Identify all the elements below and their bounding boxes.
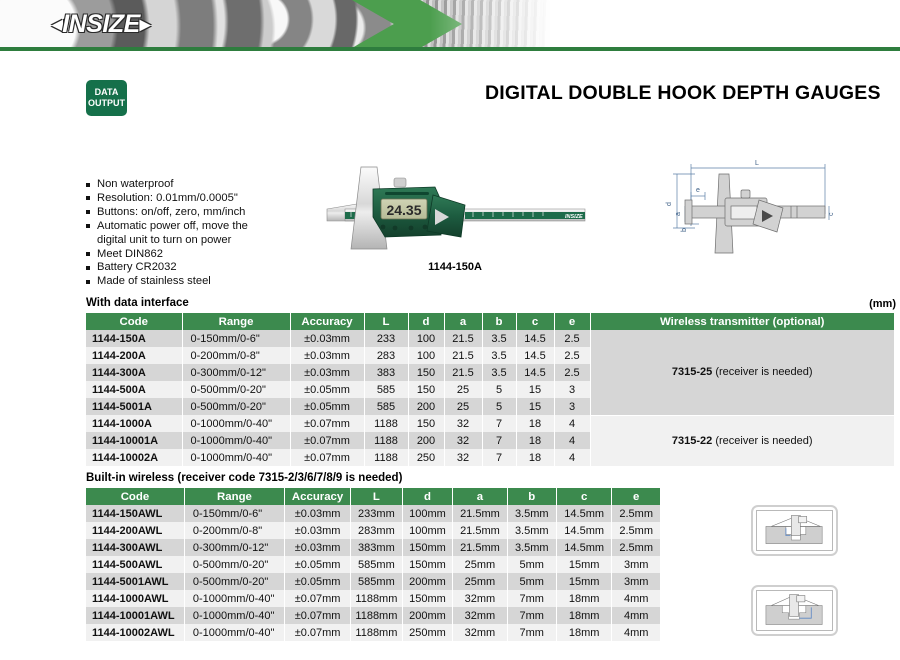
cell-e: 4mm <box>612 624 660 641</box>
cell-range: 0-1000mm/0-40" <box>182 415 290 432</box>
cell-a: 25 <box>444 381 482 398</box>
cell-L: 233mm <box>351 505 403 522</box>
column-header-wireless-transmitter: Wireless transmitter (optional) <box>590 313 894 330</box>
cell-b: 3.5 <box>482 364 516 381</box>
cell-L: 585mm <box>351 573 403 590</box>
cell-d: 100mm <box>402 522 453 539</box>
cell-c: 18 <box>516 415 554 432</box>
cell-wireless-transmitter: 7315-25 (receiver is needed) <box>590 330 894 415</box>
cell-c: 14.5 <box>516 330 554 347</box>
cell-code: 1144-150A <box>86 330 182 347</box>
cell-accuracy: ±0.07mm <box>290 432 364 449</box>
cell-e: 3 <box>554 398 590 415</box>
cell-range: 0-1000mm/0-40" <box>184 590 284 607</box>
transmitter-code: 7315-22 <box>672 435 712 447</box>
cell-b: 3.5mm <box>507 539 556 556</box>
cell-code: 1144-5001A <box>86 398 182 415</box>
cell-a: 21.5 <box>444 347 482 364</box>
built-in-wireless-table: CodeRangeAccuracyLdabce 1144-150AWL0-150… <box>86 488 660 641</box>
cell-a: 25 <box>444 398 482 415</box>
table1-section-label: With data interface <box>86 297 189 309</box>
cell-L: 1188mm <box>351 624 403 641</box>
cell-a: 32mm <box>453 607 507 624</box>
cell-code: 1144-300A <box>86 364 182 381</box>
cell-a: 21.5mm <box>453 539 507 556</box>
cell-L: 383mm <box>351 539 403 556</box>
cell-d: 200 <box>408 432 444 449</box>
table1-body: 1144-150A0-150mm/0-6"±0.03mm23310021.53.… <box>86 330 894 466</box>
cell-range: 0-500mm/0-20" <box>184 573 284 590</box>
cell-a: 21.5 <box>444 330 482 347</box>
cell-accuracy: ±0.05mm <box>285 556 351 573</box>
column-header-e: e <box>612 488 660 505</box>
cell-accuracy: ±0.05mm <box>290 398 364 415</box>
table-row: 1144-200AWL0-200mm/0-8"±0.03mm283mm100mm… <box>86 522 660 539</box>
cell-e: 3mm <box>612 556 660 573</box>
cell-L: 585 <box>364 381 408 398</box>
cell-accuracy: ±0.07mm <box>290 449 364 466</box>
cell-accuracy: ±0.03mm <box>290 330 364 347</box>
cell-range: 0-150mm/0-6" <box>182 330 290 347</box>
cell-b: 3.5mm <box>507 522 556 539</box>
column-header-d: d <box>402 488 453 505</box>
header-rule-thin <box>0 50 900 51</box>
cell-code: 1144-500A <box>86 381 182 398</box>
cell-a: 32mm <box>453 590 507 607</box>
dim-label-b: b <box>681 228 688 232</box>
cell-b: 5mm <box>507 573 556 590</box>
badge-line-2: OUTPUT <box>88 98 125 109</box>
table-row: 1144-1000A0-1000mm/0-40"±0.07mm118815032… <box>86 415 894 432</box>
header-banner: ◂INSIZE▸ <box>0 0 900 48</box>
feature-item: Meet DIN862 <box>86 248 301 261</box>
cell-b: 7 <box>482 415 516 432</box>
column-header-d: d <box>408 313 444 330</box>
cell-b: 7 <box>482 432 516 449</box>
feature-item: digital unit to turn on power <box>86 234 301 247</box>
cell-c: 18 <box>516 449 554 466</box>
cell-L: 1188 <box>364 415 408 432</box>
table2-header-row: CodeRangeAccuracyLdabce <box>86 488 660 505</box>
cell-e: 4mm <box>612 607 660 624</box>
table1-unit-note: (mm) <box>869 298 896 310</box>
cell-c: 14.5mm <box>556 539 611 556</box>
cell-code: 1144-150AWL <box>86 505 184 522</box>
cell-accuracy: ±0.03mm <box>290 364 364 381</box>
technical-dimension-drawing: L d a e b c <box>665 148 893 266</box>
feature-item: Automatic power off, move the <box>86 220 301 233</box>
cell-c: 18mm <box>556 624 611 641</box>
cell-e: 2.5mm <box>612 539 660 556</box>
cell-range: 0-500mm/0-20" <box>182 381 290 398</box>
table-row: 1144-150A0-150mm/0-6"±0.03mm23310021.53.… <box>86 330 894 347</box>
cell-L: 1188mm <box>351 590 403 607</box>
cell-a: 32mm <box>453 624 507 641</box>
product-photo: INSIZE 24.35 <box>315 165 595 265</box>
column-header-b: b <box>507 488 556 505</box>
cell-c: 15 <box>516 398 554 415</box>
table-row: 1144-300AWL0-300mm/0-12"±0.03mm383mm150m… <box>86 539 660 556</box>
cell-e: 4mm <box>612 590 660 607</box>
cell-d: 100mm <box>402 505 453 522</box>
cell-code: 1144-10002A <box>86 449 182 466</box>
application-image-inner-groove <box>751 505 838 556</box>
cell-accuracy: ±0.07mm <box>290 415 364 432</box>
cell-b: 7 <box>482 449 516 466</box>
cell-e: 4 <box>554 432 590 449</box>
cell-L: 585mm <box>351 556 403 573</box>
cell-a: 21.5mm <box>453 522 507 539</box>
photo-body-brand: INSIZE <box>565 214 583 220</box>
cell-accuracy: ±0.07mm <box>285 607 351 624</box>
cell-a: 32 <box>444 432 482 449</box>
cell-c: 15mm <box>556 573 611 590</box>
cell-b: 3.5 <box>482 347 516 364</box>
cell-range: 0-500mm/0-20" <box>184 556 284 573</box>
cell-a: 25mm <box>453 556 507 573</box>
dim-label-L: L <box>755 160 759 167</box>
cell-e: 3mm <box>612 573 660 590</box>
cell-accuracy: ±0.05mm <box>285 573 351 590</box>
cell-e: 2.5mm <box>612 505 660 522</box>
cell-code: 1144-1000A <box>86 415 182 432</box>
table-row: 1144-10002AWL0-1000mm/0-40"±0.07mm1188mm… <box>86 624 660 641</box>
cell-code: 1144-10002AWL <box>86 624 184 641</box>
table1-header-row: CodeRangeAccuracyLdabceWireless transmit… <box>86 313 894 330</box>
cell-e: 2.5mm <box>612 522 660 539</box>
transmitter-note: (receiver is needed) <box>712 366 812 378</box>
cell-b: 5 <box>482 381 516 398</box>
cell-L: 585 <box>364 398 408 415</box>
cell-b: 7mm <box>507 590 556 607</box>
cell-a: 32 <box>444 449 482 466</box>
cell-b: 7mm <box>507 607 556 624</box>
cell-range: 0-200mm/0-8" <box>182 347 290 364</box>
cell-d: 150mm <box>402 590 453 607</box>
page-title: DIGITAL DOUBLE HOOK DEPTH GAUGES <box>485 82 881 105</box>
cell-e: 4 <box>554 449 590 466</box>
column-header-e: e <box>554 313 590 330</box>
cell-code: 1144-1000AWL <box>86 590 184 607</box>
cell-e: 3 <box>554 381 590 398</box>
cell-d: 200 <box>408 398 444 415</box>
cell-d: 200mm <box>402 573 453 590</box>
cell-L: 233 <box>364 330 408 347</box>
with-data-interface-table: CodeRangeAccuracyLdabceWireless transmit… <box>86 313 894 467</box>
cell-d: 150mm <box>402 556 453 573</box>
cell-b: 5mm <box>507 556 556 573</box>
column-header-accuracy: Accuracy <box>290 313 364 330</box>
cell-code: 1144-500AWL <box>86 556 184 573</box>
column-header-range: Range <box>184 488 284 505</box>
cell-accuracy: ±0.05mm <box>290 381 364 398</box>
cell-d: 150 <box>408 415 444 432</box>
logo-wordmark: INSIZE <box>62 10 140 39</box>
cell-L: 1188mm <box>351 607 403 624</box>
cell-c: 15mm <box>556 556 611 573</box>
logo-left-arrow-icon: ◂ <box>52 12 62 37</box>
banner-white-fade <box>430 0 570 48</box>
cell-a: 25mm <box>453 573 507 590</box>
cell-code: 1144-5001AWL <box>86 573 184 590</box>
cell-c: 14.5 <box>516 364 554 381</box>
cell-code: 1144-10001A <box>86 432 182 449</box>
column-header-b: b <box>482 313 516 330</box>
cell-b: 3.5mm <box>507 505 556 522</box>
cell-b: 7mm <box>507 624 556 641</box>
cell-wireless-transmitter: 7315-22 (receiver is needed) <box>590 415 894 466</box>
cell-a: 21.5 <box>444 364 482 381</box>
lcd-reading: 24.35 <box>386 202 421 218</box>
cell-b: 3.5 <box>482 330 516 347</box>
table-row: 1144-5001AWL0-500mm/0-20"±0.05mm585mm200… <box>86 573 660 590</box>
cell-d: 250mm <box>402 624 453 641</box>
feature-item: Resolution: 0.01mm/0.0005" <box>86 192 301 205</box>
cell-L: 283mm <box>351 522 403 539</box>
cell-accuracy: ±0.03mm <box>290 347 364 364</box>
logo-right-arrow-icon: ▸ <box>140 12 150 37</box>
cell-code: 1144-200A <box>86 347 182 364</box>
cell-code: 1144-300AWL <box>86 539 184 556</box>
table-row: 1144-150AWL0-150mm/0-6"±0.03mm233mm100mm… <box>86 505 660 522</box>
cell-range: 0-1000mm/0-40" <box>182 449 290 466</box>
insize-logo: ◂INSIZE▸ <box>36 8 166 40</box>
cell-code: 1144-200AWL <box>86 522 184 539</box>
column-header-code: Code <box>86 313 182 330</box>
cell-a: 21.5mm <box>453 505 507 522</box>
cell-c: 14.5mm <box>556 522 611 539</box>
cell-L: 1188 <box>364 432 408 449</box>
cell-c: 15 <box>516 381 554 398</box>
catalog-page: ◂INSIZE▸ DATA OUTPUT DIGITAL DOUBLE HOOK… <box>0 0 900 660</box>
column-header-l: L <box>364 313 408 330</box>
column-header-code: Code <box>86 488 184 505</box>
cell-range: 0-300mm/0-12" <box>184 539 284 556</box>
application-image-outer-step <box>751 585 838 636</box>
feature-item: Made of stainless steel <box>86 275 301 288</box>
column-header-c: c <box>556 488 611 505</box>
table2-body: 1144-150AWL0-150mm/0-6"±0.03mm233mm100mm… <box>86 505 660 641</box>
transmitter-code: 7315-25 <box>672 366 712 378</box>
cell-range: 0-1000mm/0-40" <box>182 432 290 449</box>
cell-e: 2.5 <box>554 347 590 364</box>
cell-d: 200mm <box>402 607 453 624</box>
cell-range: 0-1000mm/0-40" <box>184 607 284 624</box>
cell-range: 0-1000mm/0-40" <box>184 624 284 641</box>
column-header-c: c <box>516 313 554 330</box>
feature-item: Non waterproof <box>86 178 301 191</box>
cell-d: 250 <box>408 449 444 466</box>
badge-line-1: DATA <box>95 87 119 98</box>
cell-d: 150 <box>408 364 444 381</box>
cell-L: 383 <box>364 364 408 381</box>
dim-label-d: d <box>666 202 673 206</box>
cell-d: 100 <box>408 330 444 347</box>
cell-range: 0-300mm/0-12" <box>182 364 290 381</box>
cell-d: 150 <box>408 381 444 398</box>
cell-d: 100 <box>408 347 444 364</box>
table2-section-label: Built-in wireless (receiver code 7315-2/… <box>86 472 402 484</box>
cell-L: 1188 <box>364 449 408 466</box>
feature-item: Buttons: on/off, zero, mm/inch <box>86 206 301 219</box>
transmitter-note: (receiver is needed) <box>712 435 812 447</box>
dim-label-a: a <box>675 212 682 216</box>
column-header-accuracy: Accuracy <box>285 488 351 505</box>
cell-code: 1144-10001AWL <box>86 607 184 624</box>
cell-range: 0-200mm/0-8" <box>184 522 284 539</box>
cell-e: 2.5 <box>554 364 590 381</box>
cell-range: 0-500mm/0-20" <box>182 398 290 415</box>
cell-e: 2.5 <box>554 330 590 347</box>
column-header-a: a <box>453 488 507 505</box>
cell-accuracy: ±0.03mm <box>285 522 351 539</box>
cell-accuracy: ±0.03mm <box>285 539 351 556</box>
dim-label-c: c <box>828 212 835 216</box>
cell-c: 18mm <box>556 607 611 624</box>
table-row: 1144-500AWL0-500mm/0-20"±0.05mm585mm150m… <box>86 556 660 573</box>
dim-label-e: e <box>696 187 700 194</box>
cell-d: 150mm <box>402 539 453 556</box>
table-row: 1144-1000AWL0-1000mm/0-40"±0.07mm1188mm1… <box>86 590 660 607</box>
feature-item: Battery CR2032 <box>86 261 301 274</box>
feature-list: Non waterproofResolution: 0.01mm/0.0005"… <box>86 178 301 289</box>
product-photo-caption: 1144-150A <box>315 261 595 273</box>
cell-c: 14.5mm <box>556 505 611 522</box>
cell-range: 0-150mm/0-6" <box>184 505 284 522</box>
column-header-range: Range <box>182 313 290 330</box>
cell-L: 283 <box>364 347 408 364</box>
table-row: 1144-10001AWL0-1000mm/0-40"±0.07mm1188mm… <box>86 607 660 624</box>
cell-accuracy: ±0.03mm <box>285 505 351 522</box>
data-output-badge: DATA OUTPUT <box>86 80 127 116</box>
cell-c: 14.5 <box>516 347 554 364</box>
cell-a: 32 <box>444 415 482 432</box>
cell-c: 18 <box>516 432 554 449</box>
cell-accuracy: ±0.07mm <box>285 624 351 641</box>
cell-e: 4 <box>554 415 590 432</box>
column-header-l: L <box>351 488 403 505</box>
cell-c: 18mm <box>556 590 611 607</box>
cell-accuracy: ±0.07mm <box>285 590 351 607</box>
column-header-a: a <box>444 313 482 330</box>
cell-b: 5 <box>482 398 516 415</box>
